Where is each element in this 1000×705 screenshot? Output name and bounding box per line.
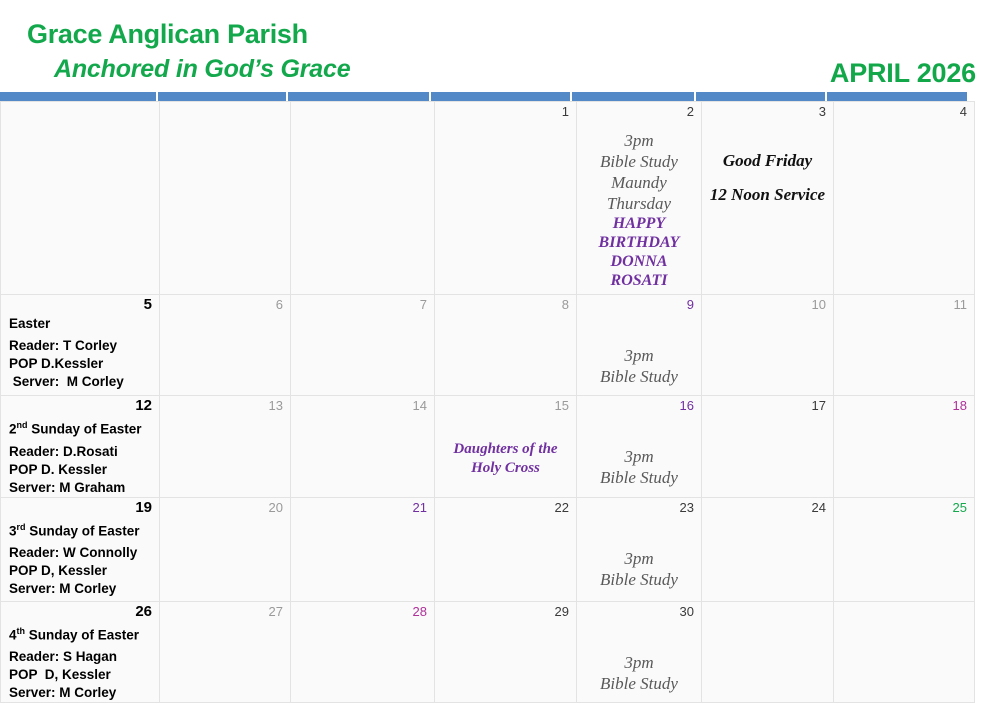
day-number: 2 [687, 104, 694, 120]
ordinal-suffix: rd [17, 522, 26, 532]
day-number: 11 [954, 297, 968, 313]
ordinal-suffix: th [17, 626, 26, 636]
calendar-day-cell[interactable]: 14 [291, 396, 435, 498]
day-number: 15 [555, 398, 569, 414]
calendar-day-cell[interactable]: 4 [834, 102, 975, 295]
calendar-day-cell[interactable]: 21 [291, 497, 435, 601]
service-role-line: POP D, Kessler [9, 562, 155, 580]
calendar-day-cell[interactable]: 22 [435, 497, 577, 601]
service-title: 2nd Sunday of Easter [9, 416, 155, 439]
day-number: 6 [276, 297, 283, 313]
calendar-day-cell[interactable] [160, 102, 291, 295]
calendar-day-cell[interactable]: 11 [834, 295, 975, 396]
calendar-day-cell[interactable]: 1 [435, 102, 577, 295]
calendar-week-row: 193rd Sunday of EasterReader: W Connolly… [1, 497, 975, 601]
service-role-line: Server: M Graham [9, 479, 155, 497]
calendar-day-cell[interactable]: 17 [702, 396, 834, 498]
day-events: Good Friday12 Noon Service [702, 102, 833, 216]
day-number: 7 [420, 297, 427, 313]
day-number: 16 [680, 398, 694, 414]
calendar-day-cell[interactable]: 8 [435, 295, 577, 396]
calendar-header-bar-segment [431, 92, 572, 101]
day-number: 1 [562, 104, 569, 120]
service-title: 4th Sunday of Easter [9, 622, 155, 645]
calendar-day-cell[interactable]: 20 [160, 497, 291, 601]
ordinal-suffix: nd [17, 420, 28, 430]
day-number: 9 [687, 297, 694, 313]
calendar-day-cell[interactable]: 18 [834, 396, 975, 498]
parish-tagline: Anchored in God’s Grace [54, 55, 350, 84]
calendar-header-bar-segment [572, 92, 696, 101]
service-role-line: Reader: S Hagan [9, 648, 155, 666]
service-role-line: POP D. Kessler [9, 461, 155, 479]
day-number: 24 [812, 500, 826, 516]
day-number: 26 [135, 604, 152, 620]
service-title: 3rd Sunday of Easter [9, 518, 155, 541]
day-number: 14 [413, 398, 427, 414]
calendar-day-cell[interactable]: 264th Sunday of EasterReader: S HaganPOP… [1, 601, 160, 703]
calendar-day-cell[interactable]: 23pmBible StudyMaundyThursdayHAPPYBIRTHD… [577, 102, 702, 295]
calendar-day-cell[interactable]: 10 [702, 295, 834, 396]
calendar-day-cell[interactable]: 163pmBible Study [577, 396, 702, 498]
day-number: 21 [413, 500, 427, 516]
calendar-day-cell[interactable]: 25 [834, 497, 975, 601]
calendar-day-cell[interactable]: 29 [435, 601, 577, 703]
day-number: 23 [680, 500, 694, 516]
calendar-day-cell[interactable]: 303pmBible Study [577, 601, 702, 703]
service-title: Easter [9, 315, 155, 333]
calendar-day-cell[interactable] [834, 601, 975, 703]
day-events: 3pmBible StudyMaundyThursdayHAPPYBIRTHDA… [577, 102, 701, 294]
calendar-day-cell[interactable]: 7 [291, 295, 435, 396]
service-role-line: Reader: W Connolly [9, 544, 155, 562]
day-number: 28 [413, 604, 427, 620]
event-text: Good Friday12 Noon Service [708, 124, 827, 212]
calendar-day-cell[interactable]: 6 [160, 295, 291, 396]
calendar-week-row: 123pmBible StudyMaundyThursdayHAPPYBIRTH… [1, 102, 975, 295]
calendar-week-row: 5EasterReader: T CorleyPOP D.Kessler Ser… [1, 295, 975, 396]
day-number: 3 [819, 104, 826, 120]
service-roster: EasterReader: T CorleyPOP D.Kessler Serv… [1, 295, 159, 391]
calendar-week-row: 122nd Sunday of EasterReader: D.RosatiPO… [1, 396, 975, 498]
parish-name: Grace Anglican Parish [27, 19, 308, 50]
day-number: 19 [135, 500, 152, 516]
calendar-day-cell[interactable]: 27 [160, 601, 291, 703]
service-role-line: Server: M Corley [9, 373, 155, 391]
day-number: 17 [812, 398, 826, 414]
calendar-day-cell[interactable]: 28 [291, 601, 435, 703]
day-number: 30 [680, 604, 694, 620]
calendar-header-bar-segment [158, 92, 288, 101]
service-role-line: Reader: D.Rosati [9, 443, 155, 461]
service-role-line: POP D, Kessler [9, 666, 155, 684]
calendar-day-cell[interactable]: 24 [702, 497, 834, 601]
calendar-day-cell[interactable] [702, 601, 834, 703]
calendar-day-cell[interactable]: 93pmBible Study [577, 295, 702, 396]
event-text: 3pmBible Study [583, 317, 695, 387]
calendar-day-cell[interactable]: 13 [160, 396, 291, 498]
month-title: APRIL 2026 [830, 58, 976, 89]
event-text: 3pmBible Study [583, 624, 695, 694]
calendar-day-cell[interactable]: 3Good Friday12 Noon Service [702, 102, 834, 295]
day-number: 20 [269, 500, 283, 516]
event-text: Daughters of theHoly Cross [441, 418, 570, 478]
calendar-header-bar [0, 92, 967, 101]
page-header: Grace Anglican Parish Anchored in God’s … [0, 0, 1000, 92]
day-number: 13 [269, 398, 283, 414]
day-number: 8 [562, 297, 569, 313]
day-number: 22 [555, 500, 569, 516]
service-role-line: Server: M Corley [9, 684, 155, 702]
day-events: 3pmBible Study [577, 295, 701, 391]
calendar-day-cell[interactable]: 122nd Sunday of EasterReader: D.RosatiPO… [1, 396, 160, 498]
service-role-line: Reader: T Corley [9, 337, 155, 355]
day-number: 27 [269, 604, 283, 620]
calendar-table: 123pmBible StudyMaundyThursdayHAPPYBIRTH… [0, 101, 975, 703]
calendar-grid-wrapper: 123pmBible StudyMaundyThursdayHAPPYBIRTH… [0, 92, 967, 703]
calendar-day-cell[interactable]: 233pmBible Study [577, 497, 702, 601]
day-number: 4 [960, 104, 967, 120]
service-role-line: Server: M Corley [9, 580, 155, 598]
calendar-day-cell[interactable] [291, 102, 435, 295]
day-number: 18 [953, 398, 967, 414]
event-text: 3pmBible Study [583, 520, 695, 590]
calendar-day-cell[interactable]: 15Daughters of theHoly Cross [435, 396, 577, 498]
calendar-day-cell[interactable]: 5EasterReader: T CorleyPOP D.Kessler Ser… [1, 295, 160, 396]
event-text: 3pmBible StudyMaundyThursday [583, 124, 695, 214]
calendar-page: Grace Anglican Parish Anchored in God’s … [0, 0, 1000, 705]
day-number: 5 [144, 297, 152, 313]
service-role-line: POP D.Kessler [9, 355, 155, 373]
day-number: 10 [812, 297, 826, 313]
calendar-week-row: 264th Sunday of EasterReader: S HaganPOP… [1, 601, 975, 703]
calendar-day-cell[interactable]: 193rd Sunday of EasterReader: W Connolly… [1, 497, 160, 601]
day-number: 12 [135, 398, 152, 414]
event-text: HAPPYBIRTHDAYDONNAROSATI [583, 214, 695, 290]
calendar-header-bar-segment [827, 92, 967, 101]
calendar-header-bar-segment [288, 92, 431, 101]
event-text: 3pmBible Study [583, 418, 695, 488]
day-number: 25 [953, 500, 967, 516]
calendar-header-bar-segment [696, 92, 827, 101]
calendar-header-bar-segment [0, 92, 158, 101]
calendar-day-cell[interactable] [1, 102, 160, 295]
day-number: 29 [555, 604, 569, 620]
